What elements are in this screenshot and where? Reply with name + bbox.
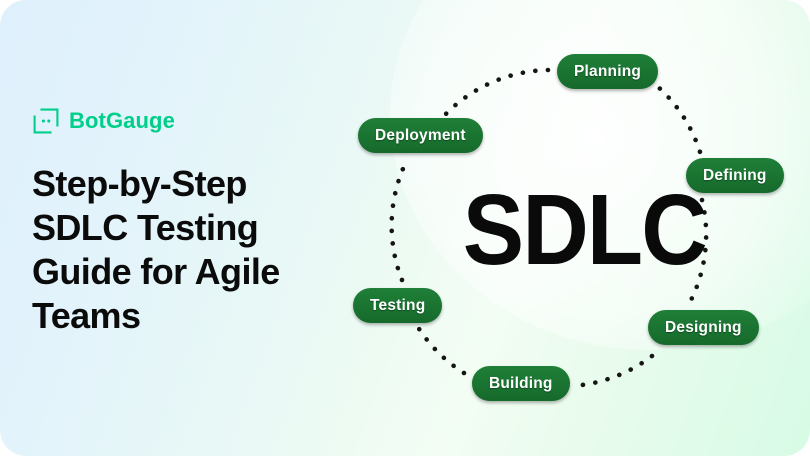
stage-pill-defining[interactable]: Defining xyxy=(686,158,784,193)
connector-testing-deployment xyxy=(392,162,406,280)
stage-pill-designing[interactable]: Designing xyxy=(648,310,759,345)
connector-building-testing xyxy=(416,324,464,373)
stage-pill-testing[interactable]: Testing xyxy=(353,288,442,323)
connector-designing-building xyxy=(572,356,652,386)
brand-name: BotGauge xyxy=(69,110,175,132)
page-title: Step-by-Step SDLC Testing Guide for Agil… xyxy=(32,162,332,338)
botgauge-logo-icon xyxy=(32,107,60,135)
brand-lockup: BotGauge xyxy=(32,104,362,138)
stage-pill-building[interactable]: Building xyxy=(472,366,570,401)
sdlc-cycle-diagram: .ring-seg { fill: none; stroke: #151515;… xyxy=(340,28,800,428)
left-content-column: BotGauge Step-by-Step SDLC Testing Guide… xyxy=(32,104,362,338)
stage-pill-deployment[interactable]: Deployment xyxy=(358,118,483,153)
sdlc-center-label: SDLC xyxy=(463,180,665,280)
banner-canvas: BotGauge Step-by-Step SDLC Testing Guide… xyxy=(0,0,810,456)
stage-pill-planning[interactable]: Planning xyxy=(557,54,658,89)
